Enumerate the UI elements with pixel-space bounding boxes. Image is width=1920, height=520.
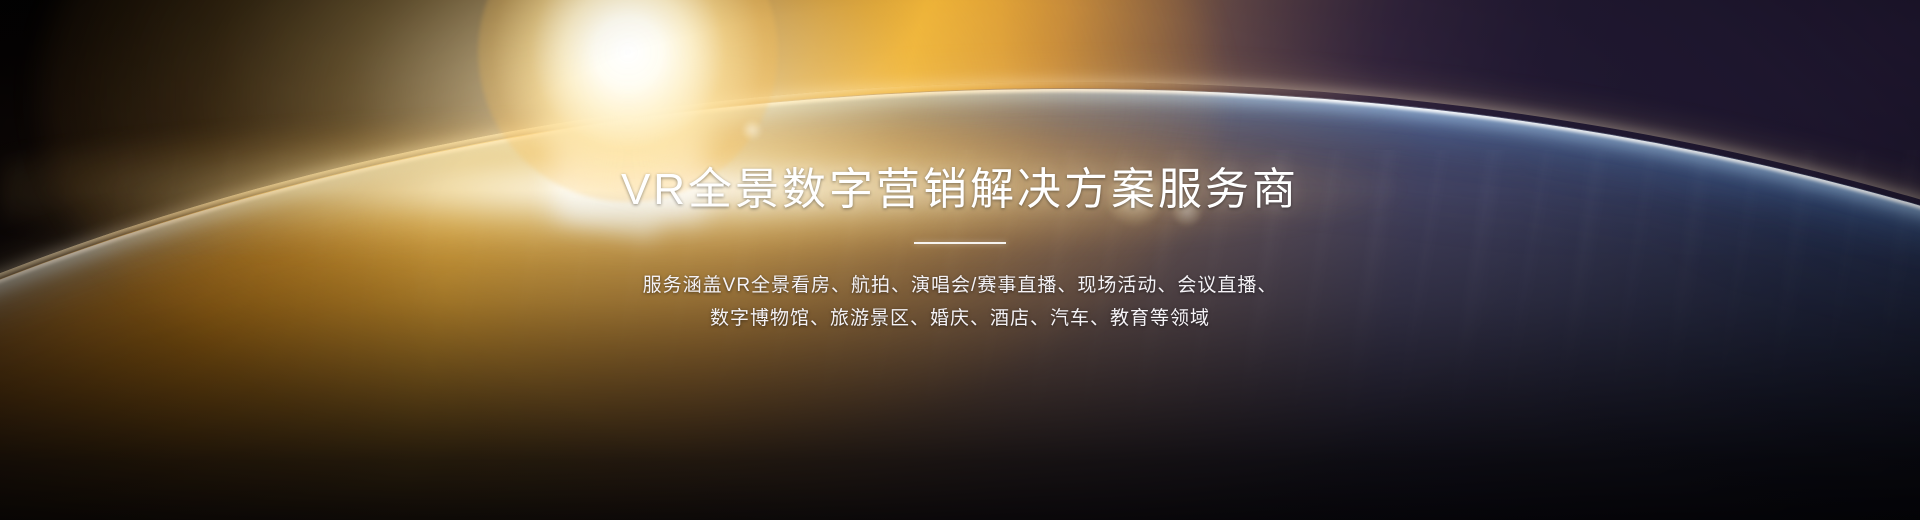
hero-title: VR全景数字营销解决方案服务商 (0, 0, 1920, 216)
title-divider (914, 242, 1006, 244)
hero-subtitle-line-1: 服务涵盖VR全景看房、航拍、演唱会/赛事直播、现场活动、会议直播、 (410, 270, 1510, 303)
hero-subtitle-line-2: 数字博物馆、旅游景区、婚庆、酒店、汽车、教育等领域 (410, 303, 1510, 336)
hero-banner: VR全景数字营销解决方案服务商 服务涵盖VR全景看房、航拍、演唱会/赛事直播、现… (0, 0, 1920, 520)
hero-subtitle: 服务涵盖VR全景看房、航拍、演唱会/赛事直播、现场活动、会议直播、 数字博物馆、… (410, 270, 1510, 335)
hero-content: VR全景数字营销解决方案服务商 服务涵盖VR全景看房、航拍、演唱会/赛事直播、现… (0, 0, 1920, 335)
